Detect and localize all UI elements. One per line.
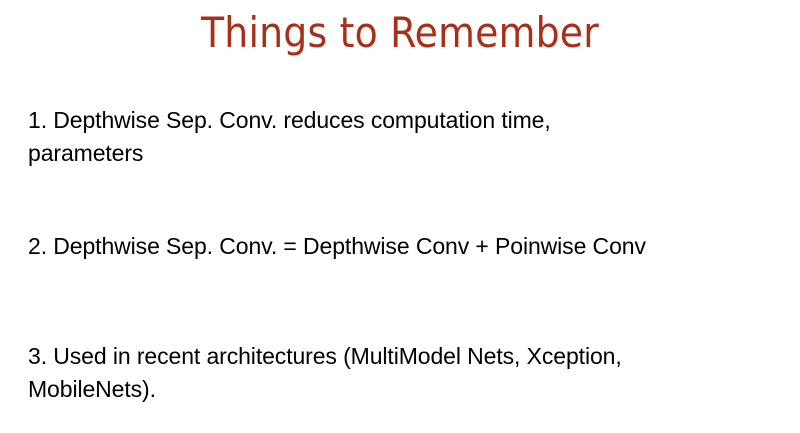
list-item: 3. Used in recent architectures (MultiMo… [28, 340, 728, 406]
slide-canvas: Things to Remember 1. Depthwise Sep. Con… [0, 0, 800, 433]
list-item: 1. Depthwise Sep. Conv. reduces computat… [28, 104, 728, 170]
list-item: 2. Depthwise Sep. Conv. = Depthwise Conv… [28, 230, 728, 263]
body-content-list: 1. Depthwise Sep. Conv. reduces computat… [28, 104, 728, 406]
page-title: Things to Remember [0, 8, 800, 58]
